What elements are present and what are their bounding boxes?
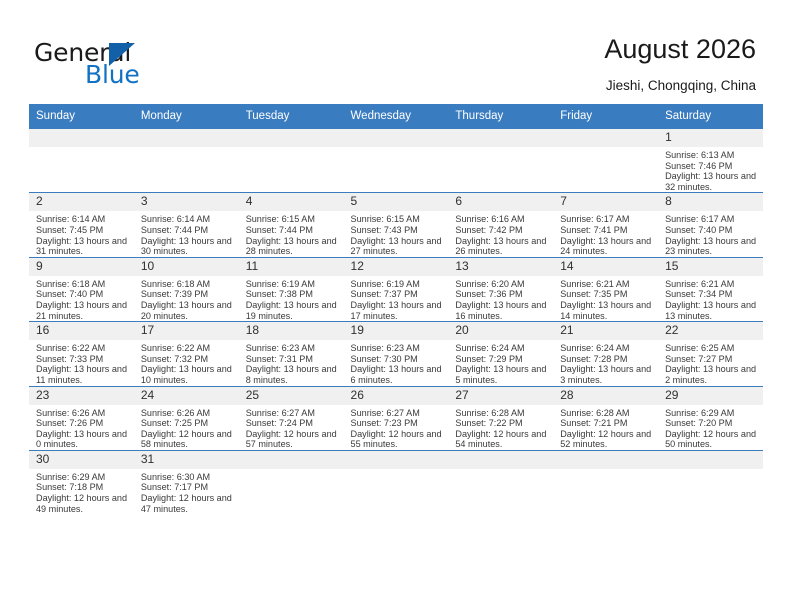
sunset-text: Sunset: 7:18 PM: [36, 482, 130, 493]
calendar-empty-cell: [134, 129, 239, 193]
day-number: [658, 451, 763, 469]
general-blue-logo[interactable]: General Blue: [34, 38, 214, 90]
weekday-header-row: Sunday Monday Tuesday Wednesday Thursday…: [29, 104, 763, 129]
day-number: 31: [134, 451, 239, 469]
day-cell-inner: [239, 451, 344, 514]
calendar-week-row: 9Sunrise: 6:18 AMSunset: 7:40 PMDaylight…: [29, 257, 763, 321]
day-number: 23: [29, 387, 134, 405]
calendar-day-cell[interactable]: 26Sunrise: 6:27 AMSunset: 7:23 PMDayligh…: [344, 386, 449, 450]
sunrise-text: Sunrise: 6:28 AM: [455, 408, 549, 419]
daylight-text: Daylight: 13 hours and 13 minutes.: [665, 300, 759, 321]
day-number: 11: [239, 258, 344, 276]
sunrise-text: Sunrise: 6:26 AM: [36, 408, 130, 419]
calendar-day-cell[interactable]: 1Sunrise: 6:13 AMSunset: 7:46 PMDaylight…: [658, 129, 763, 193]
day-cell-inner: 6Sunrise: 6:16 AMSunset: 7:42 PMDaylight…: [448, 193, 553, 256]
calendar-day-cell[interactable]: 23Sunrise: 6:26 AMSunset: 7:26 PMDayligh…: [29, 386, 134, 450]
calendar-day-cell[interactable]: 28Sunrise: 6:28 AMSunset: 7:21 PMDayligh…: [553, 386, 658, 450]
day-details: Sunrise: 6:17 AMSunset: 7:41 PMDaylight:…: [553, 211, 658, 256]
sunrise-text: Sunrise: 6:21 AM: [665, 279, 759, 290]
calendar-day-cell[interactable]: 19Sunrise: 6:23 AMSunset: 7:30 PMDayligh…: [344, 322, 449, 386]
day-number: 19: [344, 322, 449, 340]
calendar-day-cell[interactable]: 21Sunrise: 6:24 AMSunset: 7:28 PMDayligh…: [553, 322, 658, 386]
day-cell-inner: 5Sunrise: 6:15 AMSunset: 7:43 PMDaylight…: [344, 193, 449, 256]
day-details: Sunrise: 6:23 AMSunset: 7:30 PMDaylight:…: [344, 340, 449, 385]
day-number: [553, 451, 658, 469]
day-cell-inner: [448, 129, 553, 192]
day-cell-inner: 14Sunrise: 6:21 AMSunset: 7:35 PMDayligh…: [553, 258, 658, 321]
day-number: [239, 129, 344, 147]
sunrise-text: Sunrise: 6:17 AM: [560, 214, 654, 225]
daylight-text: Daylight: 13 hours and 6 minutes.: [351, 364, 445, 385]
sunset-text: Sunset: 7:41 PM: [560, 225, 654, 236]
calendar-empty-cell: [448, 129, 553, 193]
day-number: 30: [29, 451, 134, 469]
sunset-text: Sunset: 7:28 PM: [560, 354, 654, 365]
day-details: Sunrise: 6:29 AMSunset: 7:20 PMDaylight:…: [658, 405, 763, 450]
daylight-text: Daylight: 13 hours and 19 minutes.: [246, 300, 340, 321]
sunset-text: Sunset: 7:36 PM: [455, 289, 549, 300]
calendar-week-row: 16Sunrise: 6:22 AMSunset: 7:33 PMDayligh…: [29, 322, 763, 386]
sunset-text: Sunset: 7:33 PM: [36, 354, 130, 365]
sunset-text: Sunset: 7:22 PM: [455, 418, 549, 429]
daylight-text: Daylight: 13 hours and 24 minutes.: [560, 236, 654, 257]
calendar-day-cell[interactable]: 18Sunrise: 6:23 AMSunset: 7:31 PMDayligh…: [239, 322, 344, 386]
day-cell-inner: 4Sunrise: 6:15 AMSunset: 7:44 PMDaylight…: [239, 193, 344, 256]
daylight-text: Daylight: 12 hours and 50 minutes.: [665, 429, 759, 450]
sunrise-text: Sunrise: 6:15 AM: [246, 214, 340, 225]
day-cell-inner: 8Sunrise: 6:17 AMSunset: 7:40 PMDaylight…: [658, 193, 763, 256]
sunset-text: Sunset: 7:32 PM: [141, 354, 235, 365]
calendar-empty-cell: [239, 450, 344, 514]
daylight-text: Daylight: 12 hours and 58 minutes.: [141, 429, 235, 450]
calendar-empty-cell: [344, 129, 449, 193]
daylight-text: Daylight: 13 hours and 16 minutes.: [455, 300, 549, 321]
daylight-text: Daylight: 12 hours and 49 minutes.: [36, 493, 130, 514]
day-cell-inner: [553, 129, 658, 192]
day-number: 26: [344, 387, 449, 405]
sunrise-sunset-calendar-table: Sunday Monday Tuesday Wednesday Thursday…: [29, 104, 763, 514]
logo-text-blue: Blue: [85, 60, 140, 89]
sunrise-text: Sunrise: 6:21 AM: [560, 279, 654, 290]
page-header: General Blue August 2026 Jieshi, Chongqi…: [0, 0, 792, 102]
day-details: Sunrise: 6:30 AMSunset: 7:17 PMDaylight:…: [134, 469, 239, 514]
sunset-text: Sunset: 7:20 PM: [665, 418, 759, 429]
calendar-day-cell[interactable]: 15Sunrise: 6:21 AMSunset: 7:34 PMDayligh…: [658, 257, 763, 321]
calendar-empty-cell: [344, 450, 449, 514]
sunrise-text: Sunrise: 6:18 AM: [36, 279, 130, 290]
day-cell-inner: 10Sunrise: 6:18 AMSunset: 7:39 PMDayligh…: [134, 258, 239, 321]
sunrise-text: Sunrise: 6:13 AM: [665, 150, 759, 161]
day-cell-inner: [448, 451, 553, 514]
day-number: 15: [658, 258, 763, 276]
calendar-body: 1Sunrise: 6:13 AMSunset: 7:46 PMDaylight…: [29, 129, 763, 515]
calendar-empty-cell: [553, 129, 658, 193]
sunrise-text: Sunrise: 6:14 AM: [141, 214, 235, 225]
day-details: Sunrise: 6:21 AMSunset: 7:34 PMDaylight:…: [658, 276, 763, 321]
daylight-text: Daylight: 13 hours and 21 minutes.: [36, 300, 130, 321]
day-cell-inner: 12Sunrise: 6:19 AMSunset: 7:37 PMDayligh…: [344, 258, 449, 321]
day-cell-inner: 25Sunrise: 6:27 AMSunset: 7:24 PMDayligh…: [239, 387, 344, 450]
sunset-text: Sunset: 7:44 PM: [141, 225, 235, 236]
sunrise-text: Sunrise: 6:26 AM: [141, 408, 235, 419]
day-details: Sunrise: 6:28 AMSunset: 7:21 PMDaylight:…: [553, 405, 658, 450]
weekday-header-saturday: Saturday: [658, 104, 763, 129]
day-details: Sunrise: 6:28 AMSunset: 7:22 PMDaylight:…: [448, 405, 553, 450]
calendar-day-cell[interactable]: 4Sunrise: 6:15 AMSunset: 7:44 PMDaylight…: [239, 193, 344, 257]
day-cell-inner: 18Sunrise: 6:23 AMSunset: 7:31 PMDayligh…: [239, 322, 344, 385]
daylight-text: Daylight: 13 hours and 17 minutes.: [351, 300, 445, 321]
calendar-day-cell[interactable]: 31Sunrise: 6:30 AMSunset: 7:17 PMDayligh…: [134, 450, 239, 514]
weekday-header-tuesday: Tuesday: [239, 104, 344, 129]
day-details: Sunrise: 6:23 AMSunset: 7:31 PMDaylight:…: [239, 340, 344, 385]
sunset-text: Sunset: 7:30 PM: [351, 354, 445, 365]
calendar-day-cell[interactable]: 13Sunrise: 6:20 AMSunset: 7:36 PMDayligh…: [448, 257, 553, 321]
daylight-text: Daylight: 13 hours and 5 minutes.: [455, 364, 549, 385]
day-cell-inner: 9Sunrise: 6:18 AMSunset: 7:40 PMDaylight…: [29, 258, 134, 321]
day-cell-inner: 31Sunrise: 6:30 AMSunset: 7:17 PMDayligh…: [134, 451, 239, 514]
day-details: Sunrise: 6:24 AMSunset: 7:29 PMDaylight:…: [448, 340, 553, 385]
sunset-text: Sunset: 7:43 PM: [351, 225, 445, 236]
day-number: [344, 451, 449, 469]
sunrise-text: Sunrise: 6:15 AM: [351, 214, 445, 225]
day-details: Sunrise: 6:14 AMSunset: 7:44 PMDaylight:…: [134, 211, 239, 256]
day-cell-inner: 1Sunrise: 6:13 AMSunset: 7:46 PMDaylight…: [658, 129, 763, 192]
sunrise-text: Sunrise: 6:24 AM: [455, 343, 549, 354]
sunset-text: Sunset: 7:44 PM: [246, 225, 340, 236]
sunset-text: Sunset: 7:40 PM: [36, 289, 130, 300]
sunrise-text: Sunrise: 6:16 AM: [455, 214, 549, 225]
calendar-empty-cell: [553, 450, 658, 514]
day-number: [239, 451, 344, 469]
day-number: 7: [553, 193, 658, 211]
daylight-text: Daylight: 13 hours and 28 minutes.: [246, 236, 340, 257]
daylight-text: Daylight: 13 hours and 11 minutes.: [36, 364, 130, 385]
calendar-day-cell[interactable]: 7Sunrise: 6:17 AMSunset: 7:41 PMDaylight…: [553, 193, 658, 257]
calendar-page: General Blue August 2026 Jieshi, Chongqi…: [0, 0, 792, 612]
day-cell-inner: 15Sunrise: 6:21 AMSunset: 7:34 PMDayligh…: [658, 258, 763, 321]
day-cell-inner: 30Sunrise: 6:29 AMSunset: 7:18 PMDayligh…: [29, 451, 134, 514]
sunrise-text: Sunrise: 6:19 AM: [246, 279, 340, 290]
day-details: Sunrise: 6:27 AMSunset: 7:24 PMDaylight:…: [239, 405, 344, 450]
calendar-day-cell[interactable]: 11Sunrise: 6:19 AMSunset: 7:38 PMDayligh…: [239, 257, 344, 321]
sunset-text: Sunset: 7:38 PM: [246, 289, 340, 300]
day-number: 20: [448, 322, 553, 340]
day-number: 5: [344, 193, 449, 211]
day-details: Sunrise: 6:18 AMSunset: 7:39 PMDaylight:…: [134, 276, 239, 321]
daylight-text: Daylight: 13 hours and 32 minutes.: [665, 171, 759, 192]
daylight-text: Daylight: 13 hours and 3 minutes.: [560, 364, 654, 385]
day-cell-inner: 2Sunrise: 6:14 AMSunset: 7:45 PMDaylight…: [29, 193, 134, 256]
day-cell-inner: 7Sunrise: 6:17 AMSunset: 7:41 PMDaylight…: [553, 193, 658, 256]
day-cell-inner: [553, 451, 658, 514]
day-details: Sunrise: 6:20 AMSunset: 7:36 PMDaylight:…: [448, 276, 553, 321]
sunrise-text: Sunrise: 6:17 AM: [665, 214, 759, 225]
sunset-text: Sunset: 7:34 PM: [665, 289, 759, 300]
calendar-week-row: 1Sunrise: 6:13 AMSunset: 7:46 PMDaylight…: [29, 129, 763, 193]
day-number: 16: [29, 322, 134, 340]
day-number: 18: [239, 322, 344, 340]
day-number: 4: [239, 193, 344, 211]
day-details: Sunrise: 6:14 AMSunset: 7:45 PMDaylight:…: [29, 211, 134, 256]
day-details: Sunrise: 6:16 AMSunset: 7:42 PMDaylight:…: [448, 211, 553, 256]
day-cell-inner: 11Sunrise: 6:19 AMSunset: 7:38 PMDayligh…: [239, 258, 344, 321]
sunset-text: Sunset: 7:46 PM: [665, 161, 759, 172]
day-number: 3: [134, 193, 239, 211]
sunrise-text: Sunrise: 6:19 AM: [351, 279, 445, 290]
day-details: Sunrise: 6:24 AMSunset: 7:28 PMDaylight:…: [553, 340, 658, 385]
day-cell-inner: [134, 129, 239, 192]
sunset-text: Sunset: 7:45 PM: [36, 225, 130, 236]
day-number: [448, 451, 553, 469]
calendar-day-cell[interactable]: 3Sunrise: 6:14 AMSunset: 7:44 PMDaylight…: [134, 193, 239, 257]
calendar-day-cell[interactable]: 24Sunrise: 6:26 AMSunset: 7:25 PMDayligh…: [134, 386, 239, 450]
day-details: Sunrise: 6:21 AMSunset: 7:35 PMDaylight:…: [553, 276, 658, 321]
daylight-text: Daylight: 13 hours and 31 minutes.: [36, 236, 130, 257]
sunset-text: Sunset: 7:25 PM: [141, 418, 235, 429]
sunset-text: Sunset: 7:24 PM: [246, 418, 340, 429]
weekday-header-thursday: Thursday: [448, 104, 553, 129]
day-number: 29: [658, 387, 763, 405]
sunrise-text: Sunrise: 6:23 AM: [246, 343, 340, 354]
sunrise-text: Sunrise: 6:25 AM: [665, 343, 759, 354]
day-number: [344, 129, 449, 147]
calendar-day-cell[interactable]: 29Sunrise: 6:29 AMSunset: 7:20 PMDayligh…: [658, 386, 763, 450]
calendar-day-cell[interactable]: 2Sunrise: 6:14 AMSunset: 7:45 PMDaylight…: [29, 193, 134, 257]
day-number: 25: [239, 387, 344, 405]
day-number: 10: [134, 258, 239, 276]
calendar-empty-cell: [658, 450, 763, 514]
sunset-text: Sunset: 7:31 PM: [246, 354, 340, 365]
day-details: Sunrise: 6:15 AMSunset: 7:44 PMDaylight:…: [239, 211, 344, 256]
calendar-day-cell[interactable]: 16Sunrise: 6:22 AMSunset: 7:33 PMDayligh…: [29, 322, 134, 386]
day-cell-inner: 22Sunrise: 6:25 AMSunset: 7:27 PMDayligh…: [658, 322, 763, 385]
calendar-day-cell[interactable]: 27Sunrise: 6:28 AMSunset: 7:22 PMDayligh…: [448, 386, 553, 450]
daylight-text: Daylight: 13 hours and 0 minutes.: [36, 429, 130, 450]
calendar-day-cell[interactable]: 8Sunrise: 6:17 AMSunset: 7:40 PMDaylight…: [658, 193, 763, 257]
day-cell-inner: 26Sunrise: 6:27 AMSunset: 7:23 PMDayligh…: [344, 387, 449, 450]
calendar-week-row: 23Sunrise: 6:26 AMSunset: 7:26 PMDayligh…: [29, 386, 763, 450]
calendar-week-row: 30Sunrise: 6:29 AMSunset: 7:18 PMDayligh…: [29, 450, 763, 514]
sunrise-text: Sunrise: 6:23 AM: [351, 343, 445, 354]
day-number: 28: [553, 387, 658, 405]
day-cell-inner: 17Sunrise: 6:22 AMSunset: 7:32 PMDayligh…: [134, 322, 239, 385]
day-cell-inner: 20Sunrise: 6:24 AMSunset: 7:29 PMDayligh…: [448, 322, 553, 385]
day-cell-inner: [29, 129, 134, 192]
sunset-text: Sunset: 7:42 PM: [455, 225, 549, 236]
day-details: Sunrise: 6:25 AMSunset: 7:27 PMDaylight:…: [658, 340, 763, 385]
sunset-text: Sunset: 7:29 PM: [455, 354, 549, 365]
sunset-text: Sunset: 7:40 PM: [665, 225, 759, 236]
sunset-text: Sunset: 7:26 PM: [36, 418, 130, 429]
calendar-day-cell[interactable]: 17Sunrise: 6:22 AMSunset: 7:32 PMDayligh…: [134, 322, 239, 386]
sunset-text: Sunset: 7:21 PM: [560, 418, 654, 429]
daylight-text: Daylight: 13 hours and 27 minutes.: [351, 236, 445, 257]
day-number: 13: [448, 258, 553, 276]
daylight-text: Daylight: 12 hours and 47 minutes.: [141, 493, 235, 514]
daylight-text: Daylight: 12 hours and 54 minutes.: [455, 429, 549, 450]
calendar-day-cell[interactable]: 30Sunrise: 6:29 AMSunset: 7:18 PMDayligh…: [29, 450, 134, 514]
day-details: Sunrise: 6:26 AMSunset: 7:26 PMDaylight:…: [29, 405, 134, 450]
sunrise-text: Sunrise: 6:20 AM: [455, 279, 549, 290]
sunset-text: Sunset: 7:39 PM: [141, 289, 235, 300]
calendar-day-cell[interactable]: 14Sunrise: 6:21 AMSunset: 7:35 PMDayligh…: [553, 257, 658, 321]
day-number: 21: [553, 322, 658, 340]
calendar-empty-cell: [29, 129, 134, 193]
day-number: 12: [344, 258, 449, 276]
sunrise-text: Sunrise: 6:22 AM: [141, 343, 235, 354]
day-details: Sunrise: 6:26 AMSunset: 7:25 PMDaylight:…: [134, 405, 239, 450]
page-subtitle-location: Jieshi, Chongqing, China: [606, 78, 756, 93]
day-number: 6: [448, 193, 553, 211]
day-number: 14: [553, 258, 658, 276]
day-details: Sunrise: 6:19 AMSunset: 7:37 PMDaylight:…: [344, 276, 449, 321]
weekday-header-wednesday: Wednesday: [344, 104, 449, 129]
day-cell-inner: [239, 129, 344, 192]
day-cell-inner: [658, 451, 763, 514]
calendar-empty-cell: [448, 450, 553, 514]
sunset-text: Sunset: 7:35 PM: [560, 289, 654, 300]
day-number: [448, 129, 553, 147]
day-number: [29, 129, 134, 147]
day-details: Sunrise: 6:15 AMSunset: 7:43 PMDaylight:…: [344, 211, 449, 256]
calendar-day-cell[interactable]: 9Sunrise: 6:18 AMSunset: 7:40 PMDaylight…: [29, 257, 134, 321]
sunrise-text: Sunrise: 6:14 AM: [36, 214, 130, 225]
daylight-text: Daylight: 13 hours and 8 minutes.: [246, 364, 340, 385]
day-details: Sunrise: 6:22 AMSunset: 7:33 PMDaylight:…: [29, 340, 134, 385]
day-number: [134, 129, 239, 147]
page-title: August 2026: [604, 34, 756, 65]
day-details: Sunrise: 6:13 AMSunset: 7:46 PMDaylight:…: [658, 147, 763, 192]
sunrise-text: Sunrise: 6:24 AM: [560, 343, 654, 354]
day-details: Sunrise: 6:27 AMSunset: 7:23 PMDaylight:…: [344, 405, 449, 450]
weekday-header-friday: Friday: [553, 104, 658, 129]
day-details: Sunrise: 6:29 AMSunset: 7:18 PMDaylight:…: [29, 469, 134, 514]
day-details: Sunrise: 6:18 AMSunset: 7:40 PMDaylight:…: [29, 276, 134, 321]
day-cell-inner: [344, 451, 449, 514]
day-details: Sunrise: 6:19 AMSunset: 7:38 PMDaylight:…: [239, 276, 344, 321]
sunrise-text: Sunrise: 6:29 AM: [665, 408, 759, 419]
daylight-text: Daylight: 13 hours and 26 minutes.: [455, 236, 549, 257]
day-cell-inner: [344, 129, 449, 192]
day-cell-inner: 27Sunrise: 6:28 AMSunset: 7:22 PMDayligh…: [448, 387, 553, 450]
daylight-text: Daylight: 13 hours and 20 minutes.: [141, 300, 235, 321]
daylight-text: Daylight: 13 hours and 10 minutes.: [141, 364, 235, 385]
calendar-day-cell[interactable]: 22Sunrise: 6:25 AMSunset: 7:27 PMDayligh…: [658, 322, 763, 386]
day-cell-inner: 3Sunrise: 6:14 AMSunset: 7:44 PMDaylight…: [134, 193, 239, 256]
daylight-text: Daylight: 12 hours and 57 minutes.: [246, 429, 340, 450]
day-number: 17: [134, 322, 239, 340]
day-details: Sunrise: 6:17 AMSunset: 7:40 PMDaylight:…: [658, 211, 763, 256]
day-number: 1: [658, 129, 763, 147]
sunrise-text: Sunrise: 6:30 AM: [141, 472, 235, 483]
day-number: 8: [658, 193, 763, 211]
day-cell-inner: 21Sunrise: 6:24 AMSunset: 7:28 PMDayligh…: [553, 322, 658, 385]
day-number: 22: [658, 322, 763, 340]
day-cell-inner: 19Sunrise: 6:23 AMSunset: 7:30 PMDayligh…: [344, 322, 449, 385]
calendar-day-cell[interactable]: 12Sunrise: 6:19 AMSunset: 7:37 PMDayligh…: [344, 257, 449, 321]
sunset-text: Sunset: 7:27 PM: [665, 354, 759, 365]
day-number: [553, 129, 658, 147]
calendar-day-cell[interactable]: 25Sunrise: 6:27 AMSunset: 7:24 PMDayligh…: [239, 386, 344, 450]
day-cell-inner: 23Sunrise: 6:26 AMSunset: 7:26 PMDayligh…: [29, 387, 134, 450]
daylight-text: Daylight: 13 hours and 23 minutes.: [665, 236, 759, 257]
day-cell-inner: 29Sunrise: 6:29 AMSunset: 7:20 PMDayligh…: [658, 387, 763, 450]
day-number: 24: [134, 387, 239, 405]
day-number: 2: [29, 193, 134, 211]
daylight-text: Daylight: 13 hours and 2 minutes.: [665, 364, 759, 385]
day-cell-inner: 24Sunrise: 6:26 AMSunset: 7:25 PMDayligh…: [134, 387, 239, 450]
weekday-header-sunday: Sunday: [29, 104, 134, 129]
day-details: Sunrise: 6:22 AMSunset: 7:32 PMDaylight:…: [134, 340, 239, 385]
day-number: 27: [448, 387, 553, 405]
sunrise-text: Sunrise: 6:27 AM: [246, 408, 340, 419]
calendar-day-cell[interactable]: 10Sunrise: 6:18 AMSunset: 7:39 PMDayligh…: [134, 257, 239, 321]
sunrise-text: Sunrise: 6:27 AM: [351, 408, 445, 419]
daylight-text: Daylight: 12 hours and 55 minutes.: [351, 429, 445, 450]
day-cell-inner: 16Sunrise: 6:22 AMSunset: 7:33 PMDayligh…: [29, 322, 134, 385]
sunset-text: Sunset: 7:37 PM: [351, 289, 445, 300]
day-cell-inner: 28Sunrise: 6:28 AMSunset: 7:21 PMDayligh…: [553, 387, 658, 450]
sunrise-text: Sunrise: 6:18 AM: [141, 279, 235, 290]
weekday-header-monday: Monday: [134, 104, 239, 129]
daylight-text: Daylight: 12 hours and 52 minutes.: [560, 429, 654, 450]
sunrise-text: Sunrise: 6:28 AM: [560, 408, 654, 419]
calendar-day-cell[interactable]: 5Sunrise: 6:15 AMSunset: 7:43 PMDaylight…: [344, 193, 449, 257]
calendar-week-row: 2Sunrise: 6:14 AMSunset: 7:45 PMDaylight…: [29, 193, 763, 257]
day-cell-inner: 13Sunrise: 6:20 AMSunset: 7:36 PMDayligh…: [448, 258, 553, 321]
sunset-text: Sunset: 7:23 PM: [351, 418, 445, 429]
calendar-day-cell[interactable]: 6Sunrise: 6:16 AMSunset: 7:42 PMDaylight…: [448, 193, 553, 257]
daylight-text: Daylight: 13 hours and 30 minutes.: [141, 236, 235, 257]
day-number: 9: [29, 258, 134, 276]
calendar-empty-cell: [239, 129, 344, 193]
sunrise-text: Sunrise: 6:29 AM: [36, 472, 130, 483]
calendar-day-cell[interactable]: 20Sunrise: 6:24 AMSunset: 7:29 PMDayligh…: [448, 322, 553, 386]
sunset-text: Sunset: 7:17 PM: [141, 482, 235, 493]
daylight-text: Daylight: 13 hours and 14 minutes.: [560, 300, 654, 321]
sunrise-text: Sunrise: 6:22 AM: [36, 343, 130, 354]
